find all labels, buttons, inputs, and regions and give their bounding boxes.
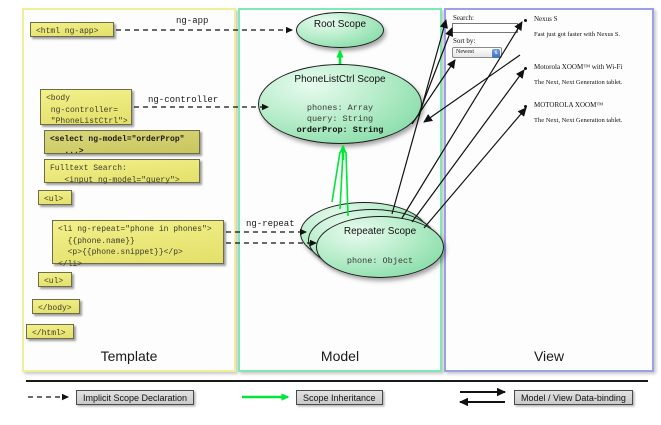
- select-tag-box: <select ng-model="orderProp" ...>: [44, 130, 200, 154]
- list-bullet: [524, 67, 527, 70]
- html-tag-box: <html ng-app>: [30, 22, 114, 37]
- html-close-box: </html>: [26, 324, 74, 339]
- view-search-label: Search:: [453, 14, 474, 22]
- column-model: Model: [238, 8, 442, 372]
- view-sort-select[interactable]: Newest ⇅: [452, 47, 502, 58]
- li-ngrepeat-box: <li ng-repeat="phone in phones"> {{phone…: [52, 220, 224, 264]
- view-sort-select-value: Newest: [456, 49, 474, 55]
- ng-controller-label: ng-controller: [148, 95, 218, 105]
- phonelistctrl-scope-prop-orderprop: orderProp: String: [259, 125, 421, 136]
- phonelistctrl-scope-ellipse: PhoneListCtrl Scope phones: Array query:…: [258, 64, 422, 144]
- repeater-scope-ellipse: Repeater Scope phone: Object: [316, 216, 444, 278]
- body-tag-box: <body ng-controller= "PhoneListCtrl">: [40, 89, 132, 125]
- column-label-template: Template: [24, 348, 234, 364]
- view-phone-snippet-0: Fast just got faster with Nexus S.: [534, 31, 620, 38]
- repeater-scope-title: Repeater Scope: [317, 226, 443, 239]
- column-label-model: Model: [240, 348, 440, 364]
- list-bullet: [524, 105, 527, 108]
- legend-double-arrow: [460, 392, 505, 402]
- phonelistctrl-scope-prop-query: query: String: [259, 114, 421, 125]
- ng-app-label: ng-app: [176, 16, 208, 26]
- ng-repeat-label: ng-repeat: [246, 219, 295, 229]
- column-label-view: View: [446, 348, 652, 364]
- view-sort-label: Sort by:: [453, 37, 475, 45]
- body-close-box: </body>: [32, 299, 80, 314]
- diagram-canvas: Template Model View <html ng-app> <body …: [0, 0, 661, 425]
- legend-implicit-scope: Implicit Scope Declaration: [76, 390, 194, 405]
- ul-open-box: <ul>: [38, 190, 72, 205]
- list-bullet: [524, 19, 527, 22]
- root-scope-ellipse: Root Scope: [296, 12, 384, 48]
- view-phone-snippet-2: The Next, Next Generation tablet.: [534, 117, 622, 124]
- view-phone-name-0: Nexus S: [534, 15, 558, 23]
- view-phone-name-2: MOTOROLA XOOM™: [534, 101, 603, 109]
- legend-divider: [26, 380, 648, 382]
- phonelistctrl-scope-prop-phones: phones: Array: [259, 103, 421, 114]
- legend-scope-inheritance: Scope Inheritance: [296, 390, 383, 405]
- fulltext-search-box: Fulltext Search: <input ng-model="query"…: [44, 159, 200, 183]
- ul-close-box: <ul>: [38, 272, 72, 287]
- view-phone-name-1: Motorola XOOM™ with Wi-Fi: [534, 63, 622, 71]
- root-scope-title: Root Scope: [297, 19, 383, 32]
- legend-data-binding: Model / View Data-binding: [514, 390, 633, 405]
- view-phone-snippet-1: The Next, Next Generation tablet.: [534, 79, 622, 86]
- repeater-scope-props: phone: Object: [317, 256, 443, 267]
- phonelistctrl-scope-title: PhoneListCtrl Scope: [259, 74, 421, 87]
- chevron-updown-icon: ⇅: [492, 49, 500, 58]
- view-search-input[interactable]: [452, 23, 518, 33]
